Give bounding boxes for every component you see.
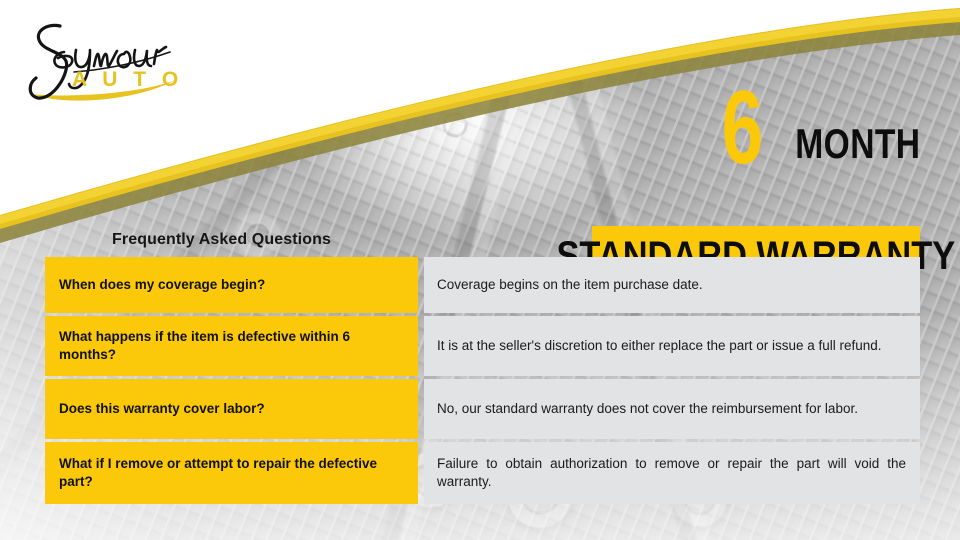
badge-number: 6	[721, 87, 761, 170]
table-row: What happens if the item is defective wi…	[45, 316, 920, 376]
badge-duration: 6 MONTH	[706, 60, 920, 170]
seymour-auto-logo: A U T O	[14, 14, 194, 110]
warranty-slide: A U T O 6 MONTH STANDARD WARRANTY Freque…	[0, 0, 960, 540]
faq-question-cell: Does this warranty cover labor?	[45, 379, 418, 439]
faq-question-text: What happens if the item is defective wi…	[59, 328, 406, 364]
table-row: What if I remove or attempt to repair th…	[45, 442, 920, 504]
badge-period-label: MONTH	[795, 125, 920, 170]
faq-answer-text: It is at the seller's discretion to eith…	[437, 337, 906, 355]
faq-answer-cell: No, our standard warranty does not cover…	[424, 379, 920, 439]
table-row: Does this warranty cover labor? No, our …	[45, 379, 920, 439]
faq-question-cell: What if I remove or attempt to repair th…	[45, 442, 418, 504]
faq-question-text: What if I remove or attempt to repair th…	[59, 455, 406, 491]
faq-answer-text: No, our standard warranty does not cover…	[437, 400, 906, 418]
faq-answer-cell: Failure to obtain authorization to remov…	[424, 442, 920, 504]
svg-text:A U T O: A U T O	[72, 68, 183, 91]
warranty-badge: 6 MONTH STANDARD WARRANTY	[592, 60, 920, 235]
faq-answer-text: Coverage begins on the item purchase dat…	[437, 276, 906, 294]
faq-question-cell: What happens if the item is defective wi…	[45, 316, 418, 376]
faq-table: When does my coverage begin? Coverage be…	[45, 257, 920, 504]
faq-answer-cell: It is at the seller's discretion to eith…	[424, 316, 920, 376]
faq-answer-text: Failure to obtain authorization to remov…	[437, 455, 906, 491]
faq-answer-cell: Coverage begins on the item purchase dat…	[424, 257, 920, 313]
page-title: Frequently Asked Questions	[112, 231, 331, 249]
table-row: When does my coverage begin? Coverage be…	[45, 257, 920, 313]
faq-question-cell: When does my coverage begin?	[45, 257, 418, 313]
faq-question-text: When does my coverage begin?	[59, 276, 265, 294]
faq-question-text: Does this warranty cover labor?	[59, 400, 265, 418]
